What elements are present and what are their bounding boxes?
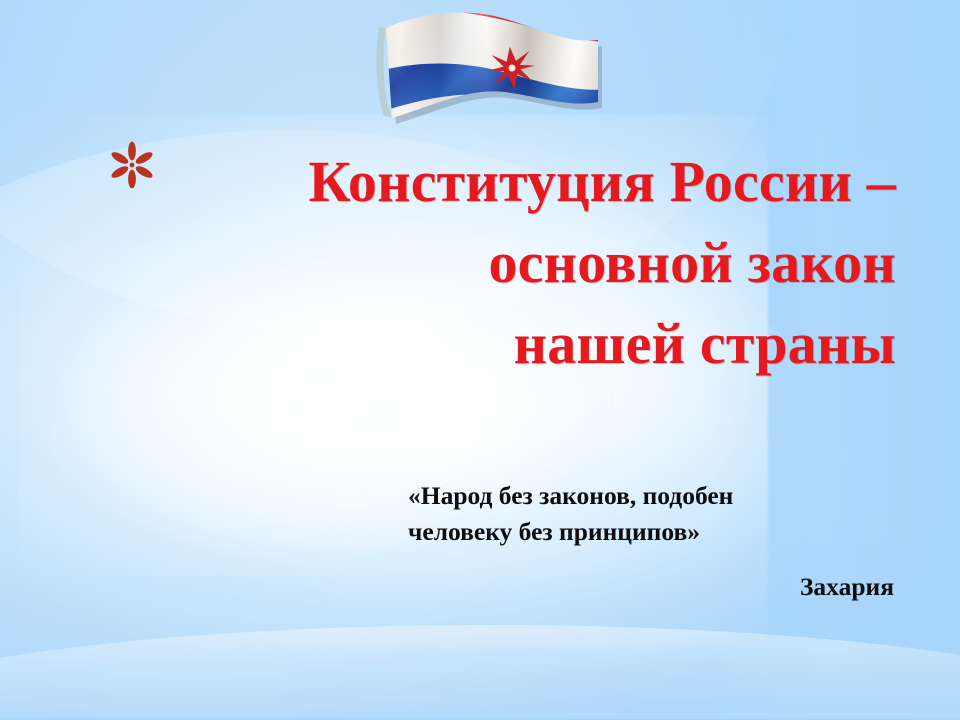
flag-fold-shading bbox=[362, 6, 622, 146]
flag-of-mordovia-icon bbox=[362, 6, 622, 146]
background-bottom-edge bbox=[0, 713, 960, 720]
slide-title: Конституция России – основной закон наше… bbox=[96, 141, 896, 385]
title-line-1: Конституция России – bbox=[96, 141, 896, 222]
quote-line-1: «Народ без законов, подобен bbox=[408, 478, 908, 514]
title-line-2: основной закон bbox=[96, 222, 896, 303]
quote-block: «Народ без законов, подобен человеку без… bbox=[408, 478, 908, 603]
background-swoosh-bottom bbox=[0, 625, 960, 720]
quote-line-2: человеку без принципов» bbox=[408, 514, 908, 550]
quote-author: Захария bbox=[408, 572, 908, 603]
title-line-3: нашей страны bbox=[96, 303, 896, 384]
title-slide: Конституция России – основной закон наше… bbox=[0, 0, 960, 720]
flag-stripes bbox=[362, 6, 622, 146]
asterisk-flower-icon bbox=[106, 139, 158, 191]
